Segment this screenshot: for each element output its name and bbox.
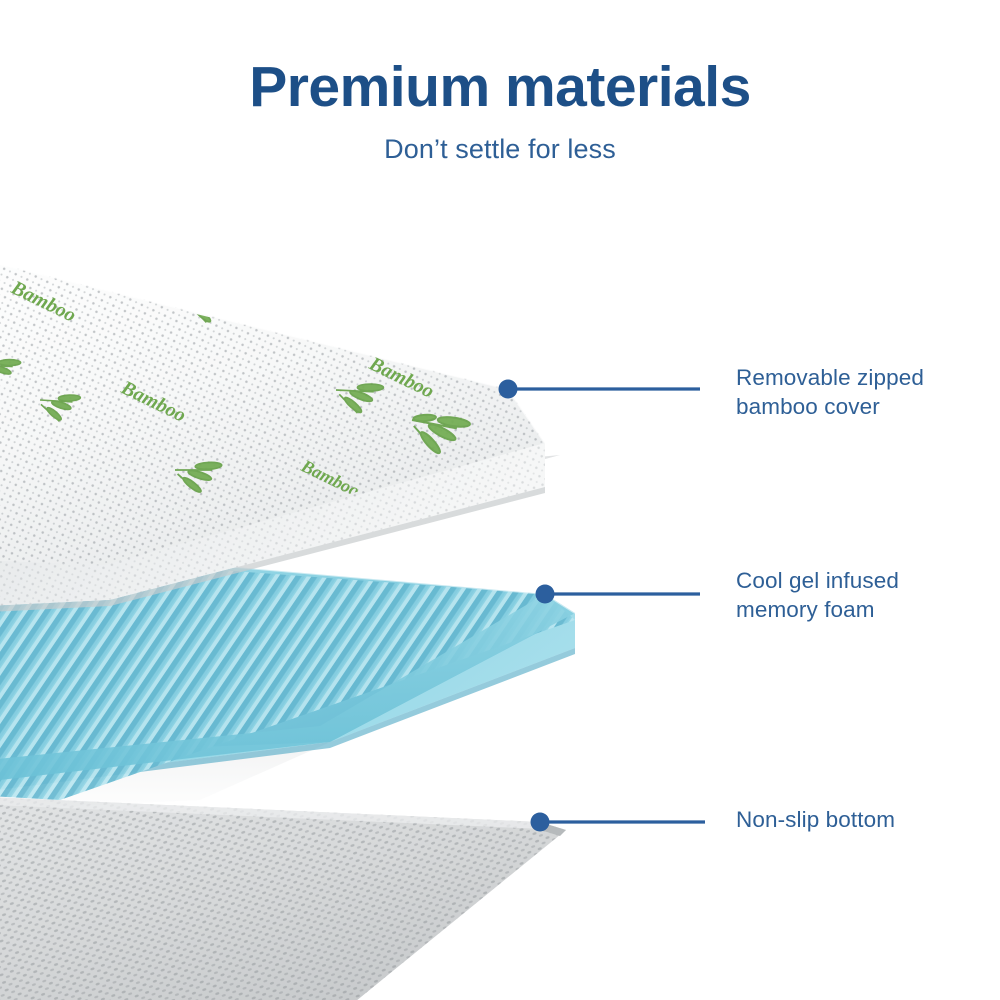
layer-bamboo-cover: Bamboo Bamboo Bamboo Bamboo Bamboo Bambo… [0, 202, 560, 618]
bamboo-word: Bamboo [219, 262, 291, 312]
bamboo-word: Bamboo [67, 208, 129, 251]
callout-label-removable-zipped-bamboo-cover: Removable zipped bamboo cover [736, 364, 924, 422]
callout-label-cool-gel-infused-memory-foam: Cool gel infused memory foam [736, 567, 899, 625]
leader-line-gel [536, 585, 701, 604]
layer-non-slip-bottom [0, 792, 566, 1000]
leader-dot [499, 380, 518, 399]
cover-top-texture [0, 232, 545, 565]
page-subtitle: Don’t settle for less [0, 134, 1000, 165]
leader-dot [531, 813, 550, 832]
leader-dot [536, 585, 555, 604]
header: Premium materials Don’t settle for less [0, 0, 1000, 165]
page-title: Premium materials [0, 58, 1000, 118]
leader-line-cover [499, 380, 701, 399]
infographic-page: Bamboo Bamboo Bamboo Bamboo Bamboo Bambo… [0, 0, 1000, 1000]
callout-label-non-slip-bottom: Non-slip bottom [736, 806, 895, 835]
